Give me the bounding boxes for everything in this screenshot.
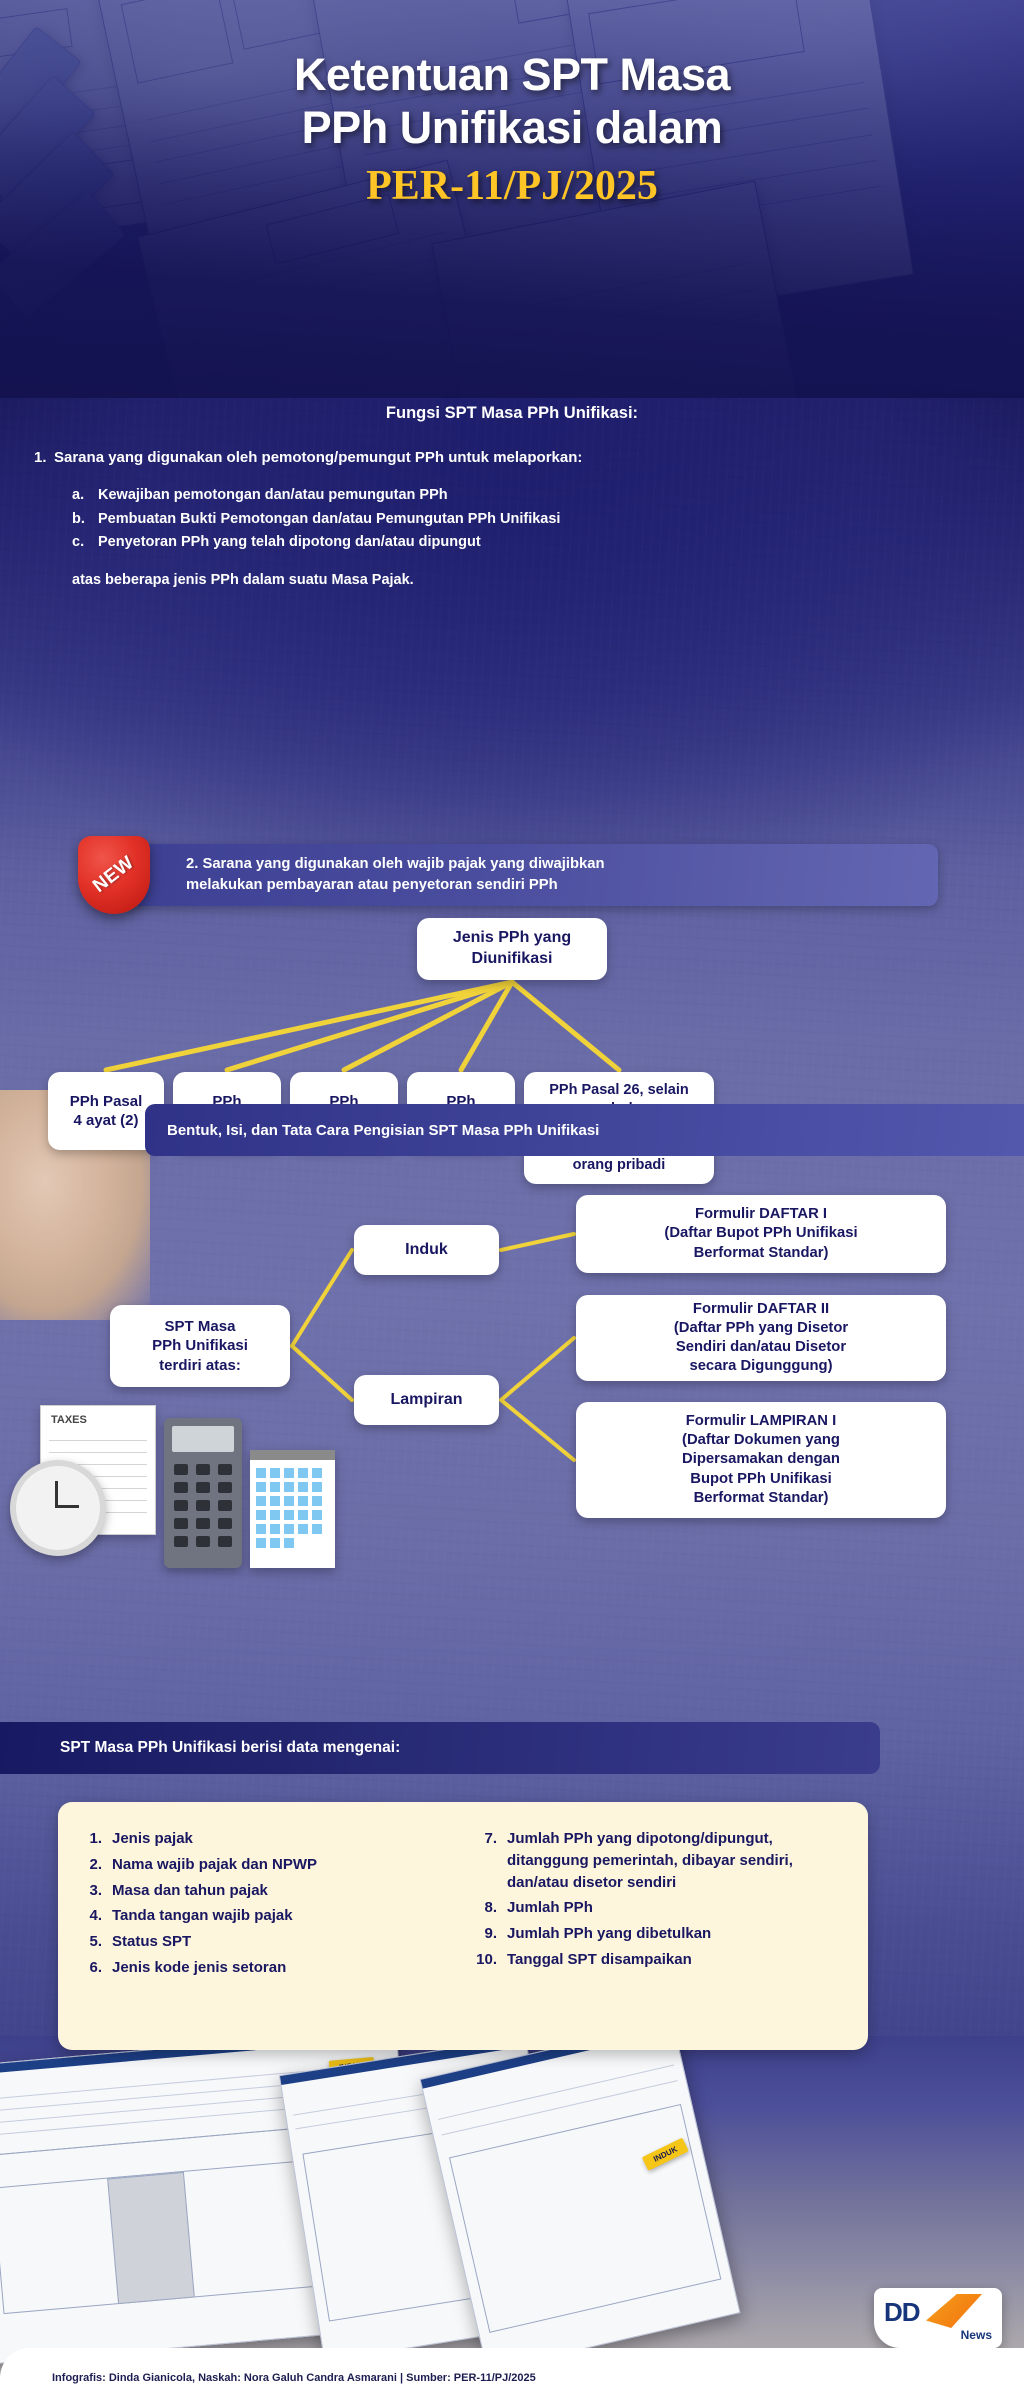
fungsi-subitem: a. Kewajiban pemotongan dan/atau pemungu… [72,484,990,507]
fungsi-subitem: b. Pembuatan Bukti Pemotongan dan/atau P… [72,508,990,531]
data-list-item: 5. Status SPT [80,1931,451,1953]
item-text: Tanda tangan wajib pajak [112,1905,451,1927]
item-text: Status SPT [112,1931,451,1953]
ddtc-news-logo: DD News [874,2288,1002,2348]
formulir-lampiran-1-node: Formulir LAMPIRAN I (Daftar Dokumen yang… [576,1402,946,1518]
formulir-line-3: Sendiri dan/atau Disetor [674,1338,848,1357]
bentuk-isi-banner: Bentuk, Isi, dan Tata Cara Pengisian SPT… [145,1104,1024,1156]
data-list-panel: 1. Jenis pajak 2. Nama wajib pajak dan N… [58,1802,868,2050]
subitem-text: Penyetoran PPh yang telah dipotong dan/a… [98,531,481,554]
item-index: 6. [80,1957,112,1979]
item-index: 2. [80,1854,112,1876]
data-list-left-column: 1. Jenis pajak 2. Nama wajib pajak dan N… [80,1828,451,2030]
formulir-line-2: (Daftar Bupot PPh Unifikasi [664,1224,857,1243]
induk-node: Induk [354,1225,499,1275]
item-index: 7. [475,1828,507,1893]
fungsi-heading: Fungsi SPT Masa PPh Unifikasi: [0,404,1024,423]
hero-title-line-2: PPh Unifikasi dalam [60,101,964,154]
data-list-item: 3. Masa dan tahun pajak [80,1880,451,1902]
pph-box-line-2: 4 ayat (2) [70,1111,143,1131]
fungsi-item-1: 1. Sarana yang digunakan oleh pemotong/p… [34,448,990,468]
formulir-line-3: Dipersamakan dengan [682,1450,840,1469]
formulir-title: Formulir DAFTAR I [664,1205,857,1224]
item-text: Tanggal SPT disampaikan [507,1949,846,1971]
data-list-item: 10. Tanggal SPT disampaikan [475,1949,846,1971]
item-index: 5. [80,1931,112,1953]
fungsi-list: 1. Sarana yang digunakan oleh pemotong/p… [34,448,990,588]
item-2-banner: 2. Sarana yang digunakan oleh wajib paja… [98,844,938,906]
item-2-text: 2. Sarana yang digunakan oleh wajib paja… [186,854,605,896]
subitem-letter: c. [72,531,98,554]
item-text: Jumlah PPh [507,1897,846,1919]
subitem-text: Kewajiban pemotongan dan/atau pemungutan… [98,484,448,507]
item-text: Masa dan tahun pajak [112,1880,451,1902]
subitem-letter: b. [72,508,98,531]
lampiran-node: Lampiran [354,1375,499,1425]
item-index: 9. [475,1923,507,1945]
hero-title-line-1: Ketentuan SPT Masa [60,48,964,101]
item-text: Jenis pajak [112,1828,451,1850]
flow2-root-line-2: PPh Unifikasi [152,1336,248,1356]
hero-regulation-number: PER-11/PJ/2025 [60,162,964,210]
flow1-root-line-2: Diunifikasi [453,949,571,970]
item-text: Jenis kode jenis setoran [112,1957,451,1979]
ddtc-logo-swoosh-icon [926,2294,982,2328]
bottom-forms-band: INDUK INDUK INDUK DD News Infografis: Di… [0,2036,1024,2408]
hero-section: Ketentuan SPT Masa PPh Unifikasi dalam P… [0,0,1024,398]
formulir-daftar-2-node: Formulir DAFTAR II (Daftar PPh yang Dise… [576,1295,946,1381]
bentuk-isi-banner-text: Bentuk, Isi, dan Tata Cara Pengisian SPT… [167,1122,599,1139]
pph-box-line-1: PPh Pasal [70,1092,143,1112]
new-badge-label: NEW [89,852,139,898]
item-text: Jumlah PPh yang dipotong/dipungut, ditan… [507,1828,846,1893]
formulir-title: Formulir DAFTAR II [674,1300,848,1319]
fungsi-item-1-text: Sarana yang digunakan oleh pemotong/pemu… [54,448,582,468]
formulir-line-5: Berformat Standar) [682,1489,840,1508]
new-item-2-block: 2. Sarana yang digunakan oleh wajib paja… [0,836,1024,916]
new-badge-icon: NEW [78,836,150,914]
infographic-page: Ketentuan SPT Masa PPh Unifikasi dalam P… [0,0,1024,2408]
subitem-letter: a. [72,484,98,507]
formulir-daftar-1-node: Formulir DAFTAR I (Daftar Bupot PPh Unif… [576,1195,946,1273]
flow1-root-node: Jenis PPh yang Diunifikasi [417,918,607,980]
footer-credits-bar: Infografis: Dinda Gianicola, Naskah: Nor… [0,2348,1024,2408]
formulir-line-2: (Daftar Dokumen yang [682,1431,840,1450]
fungsi-item-1-number: 1. [34,448,54,468]
fungsi-closing-text: atas beberapa jenis PPh dalam suatu Masa… [72,572,990,588]
item-index: 3. [80,1880,112,1902]
formulir-line-3: Berformat Standar) [664,1244,857,1263]
item-index: 1. [80,1828,112,1850]
subitem-text: Pembuatan Bukti Pemotongan dan/atau Pemu… [98,508,560,531]
ddtc-logo-news-label: News [961,2328,992,2342]
formulir-line-4: Bupot PPh Unifikasi [682,1470,840,1489]
data-list-item: 4. Tanda tangan wajib pajak [80,1905,451,1927]
item-2-line-1: 2. Sarana yang digunakan oleh wajib paja… [186,854,605,875]
data-list-right-column: 7. Jumlah PPh yang dipotong/dipungut, di… [451,1828,846,2030]
formulir-title: Formulir LAMPIRAN I [682,1412,840,1431]
data-list-item: 1. Jenis pajak [80,1828,451,1850]
item-index: 10. [475,1949,507,1971]
item-2-line-2: melakukan pembayaran atau penyetoran sen… [186,875,605,896]
struktur-flowchart: SPT Masa PPh Unifikasi terdiri atas: Ind… [0,1180,1024,1600]
item-index: 4. [80,1905,112,1927]
data-list-item: 7. Jumlah PPh yang dipotong/dipungut, di… [475,1828,846,1893]
fungsi-subitems: a. Kewajiban pemotongan dan/atau pemungu… [72,484,990,554]
fungsi-subitem: c. Penyetoran PPh yang telah dipotong da… [72,531,990,554]
data-list-item: 6. Jenis kode jenis setoran [80,1957,451,1979]
item-text: Jumlah PPh yang dibetulkan [507,1923,846,1945]
flow2-root-line-1: SPT Masa [152,1317,248,1337]
formulir-line-4: secara Digunggung) [674,1357,848,1376]
flow1-root-line-1: Jenis PPh yang [453,928,571,949]
hero-title-block: Ketentuan SPT Masa PPh Unifikasi dalam P… [0,48,1024,210]
item-text: Nama wajib pajak dan NPWP [112,1854,451,1876]
data-list-item: 2. Nama wajib pajak dan NPWP [80,1854,451,1876]
footer-credits-text: Infografis: Dinda Gianicola, Naskah: Nor… [52,2372,536,2384]
ddtc-logo-mark: DD [884,2297,920,2328]
data-list-item: 8. Jumlah PPh [475,1897,846,1919]
berisi-data-banner-text: SPT Masa PPh Unifikasi berisi data menge… [60,1739,400,1757]
flow2-root-line-3: terdiri atas: [152,1356,248,1376]
flow2-root-node: SPT Masa PPh Unifikasi terdiri atas: [110,1305,290,1387]
pph-box-line-1: PPh Pasal 26, selain [549,1081,688,1100]
data-list-item: 9. Jumlah PPh yang dibetulkan [475,1923,846,1945]
fungsi-section: Fungsi SPT Masa PPh Unifikasi: 1. Sarana… [0,398,1024,588]
berisi-data-banner: SPT Masa PPh Unifikasi berisi data menge… [0,1722,880,1774]
pph-box-line-5: orang pribadi [549,1156,688,1175]
formulir-line-2: (Daftar PPh yang Disetor [674,1319,848,1338]
item-index: 8. [475,1897,507,1919]
